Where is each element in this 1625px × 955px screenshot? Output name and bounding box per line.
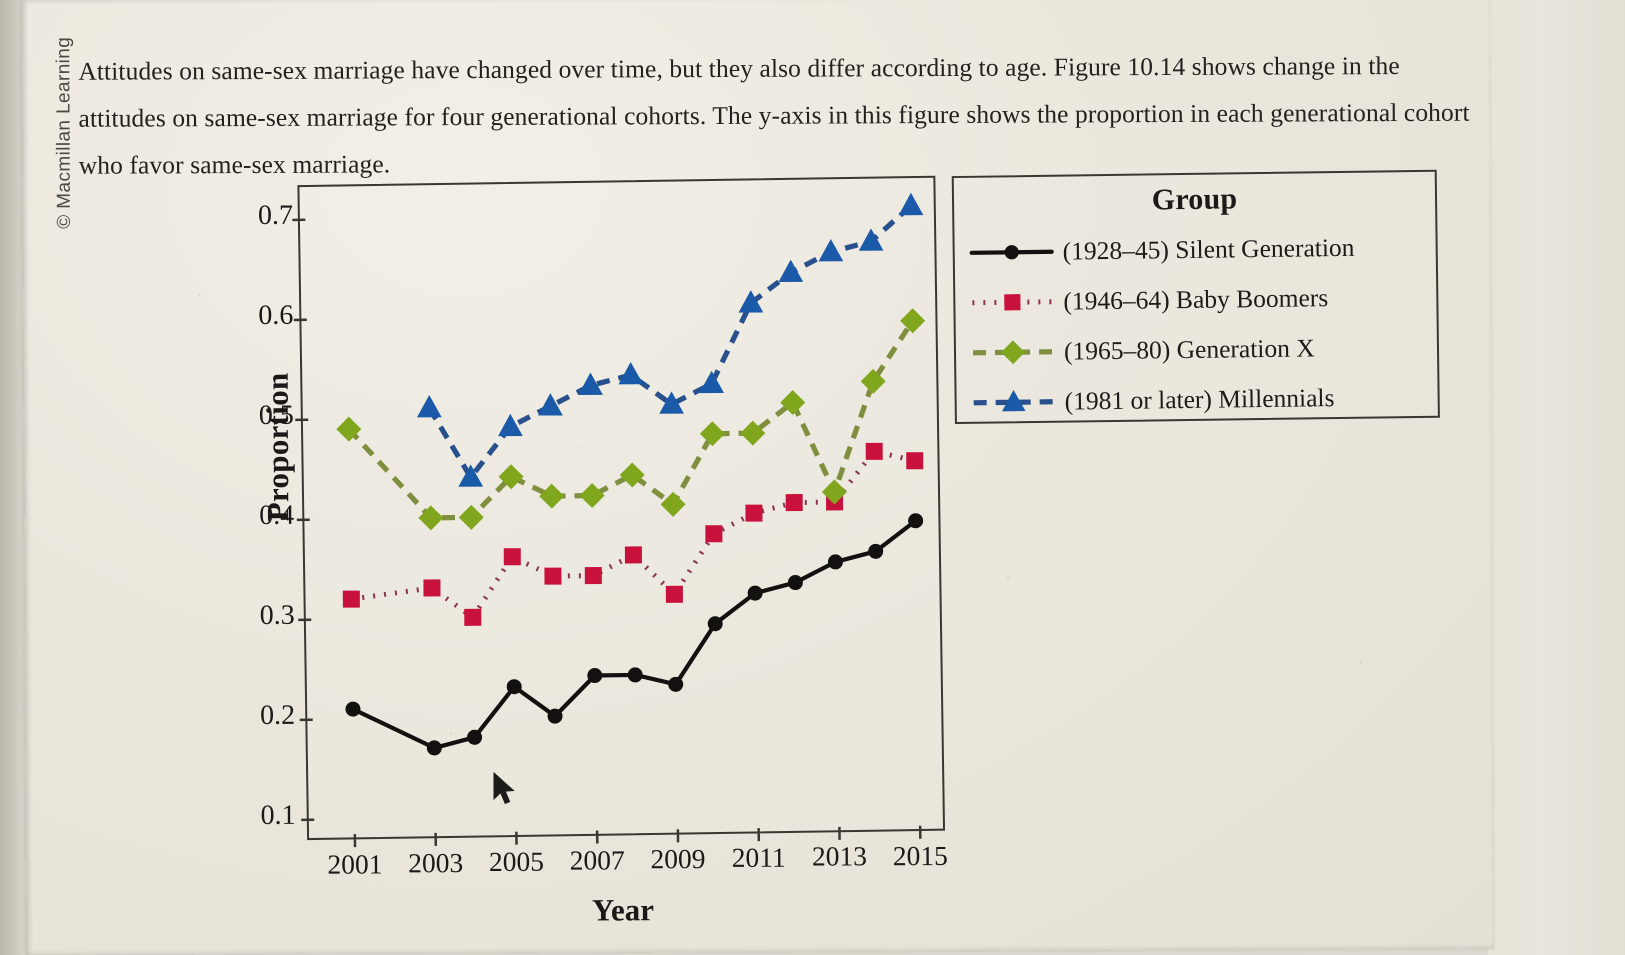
legend-swatch-triangle-icon bbox=[970, 385, 1056, 420]
series-line bbox=[428, 206, 912, 478]
data-point-marker-square bbox=[423, 579, 440, 596]
data-point-marker-circle bbox=[828, 554, 843, 569]
data-point-marker-diamond bbox=[580, 483, 605, 508]
data-point-marker-square bbox=[504, 548, 521, 565]
data-point-marker-square bbox=[343, 591, 360, 608]
screenshot-root: © Macmillan Learning Attitudes on same-s… bbox=[0, 0, 1625, 955]
series-2 bbox=[336, 308, 926, 531]
legend-title: Group bbox=[954, 180, 1435, 220]
data-point-marker-triangle bbox=[818, 239, 843, 261]
data-point-marker-diamond bbox=[700, 421, 725, 446]
data-point-marker-triangle bbox=[417, 395, 442, 417]
legend-entry-2[interactable]: (1965–80) Generation X bbox=[970, 325, 1315, 376]
figure-10-14: Proportion Year 0.10.20.30.40.50.60.7 20… bbox=[22, 0, 1494, 955]
data-point-marker-square bbox=[666, 586, 683, 603]
data-point-marker-square bbox=[1004, 294, 1020, 310]
data-point-marker-triangle bbox=[899, 193, 924, 215]
data-point-marker-square bbox=[786, 494, 803, 511]
data-point-marker-diamond bbox=[539, 484, 564, 509]
data-point-marker-square bbox=[625, 546, 642, 563]
legend-label: (1981 or later) Millennials bbox=[1064, 383, 1334, 417]
legend-swatch-square-icon bbox=[969, 285, 1055, 320]
data-point-marker-square bbox=[464, 609, 481, 626]
data-point-marker-circle bbox=[1004, 245, 1018, 259]
book-page: © Macmillan Learning Attitudes on same-s… bbox=[22, 0, 1494, 955]
data-point-marker-circle bbox=[748, 586, 763, 601]
data-point-marker-triangle bbox=[859, 228, 884, 250]
data-point-marker-circle bbox=[908, 513, 923, 528]
legend-swatch-diamond-icon bbox=[970, 335, 1056, 370]
data-point-marker-circle bbox=[427, 740, 442, 755]
data-point-marker-circle bbox=[587, 668, 602, 683]
data-point-marker-square bbox=[866, 443, 883, 460]
data-point-marker-triangle bbox=[778, 260, 803, 282]
legend-label: (1928–45) Silent Generation bbox=[1063, 233, 1355, 267]
data-point-marker-circle bbox=[345, 702, 360, 717]
data-point-marker-circle bbox=[788, 575, 803, 590]
chart-series-canvas bbox=[22, 0, 1494, 955]
data-point-marker-triangle bbox=[618, 362, 643, 384]
data-point-marker-square bbox=[745, 505, 762, 522]
legend-entry-3[interactable]: (1981 or later) Millennials bbox=[970, 375, 1334, 426]
data-point-marker-triangle bbox=[699, 371, 724, 393]
legend-swatch-circle-icon bbox=[968, 235, 1054, 270]
data-point-marker-diamond bbox=[1001, 340, 1025, 364]
series-3 bbox=[416, 193, 925, 487]
data-point-marker-square bbox=[705, 525, 722, 542]
data-point-marker-circle bbox=[467, 730, 482, 745]
legend-entry-1[interactable]: (1946–64) Baby Boomers bbox=[969, 275, 1328, 326]
data-point-marker-square bbox=[906, 452, 923, 469]
data-point-marker-triangle bbox=[498, 414, 523, 436]
data-point-marker-diamond bbox=[418, 505, 443, 530]
adjacent-page bbox=[1488, 0, 1625, 955]
data-point-marker-circle bbox=[668, 677, 683, 692]
data-point-marker-circle bbox=[708, 616, 723, 631]
legend-entry-0[interactable]: (1928–45) Silent Generation bbox=[968, 225, 1354, 276]
data-point-marker-diamond bbox=[459, 505, 484, 530]
data-point-marker-circle bbox=[628, 667, 643, 682]
data-point-marker-square bbox=[585, 567, 602, 584]
data-point-marker-circle bbox=[547, 709, 562, 724]
data-point-marker-circle bbox=[507, 679, 522, 694]
legend-label: (1946–64) Baby Boomers bbox=[1063, 283, 1328, 316]
data-point-marker-square bbox=[544, 568, 561, 585]
data-point-marker-circle bbox=[868, 544, 883, 559]
legend-label: (1965–80) Generation X bbox=[1064, 333, 1315, 366]
legend: Group (1928–45) Silent Generation(1946–6… bbox=[952, 170, 1440, 424]
data-point-marker-diamond bbox=[822, 479, 847, 504]
